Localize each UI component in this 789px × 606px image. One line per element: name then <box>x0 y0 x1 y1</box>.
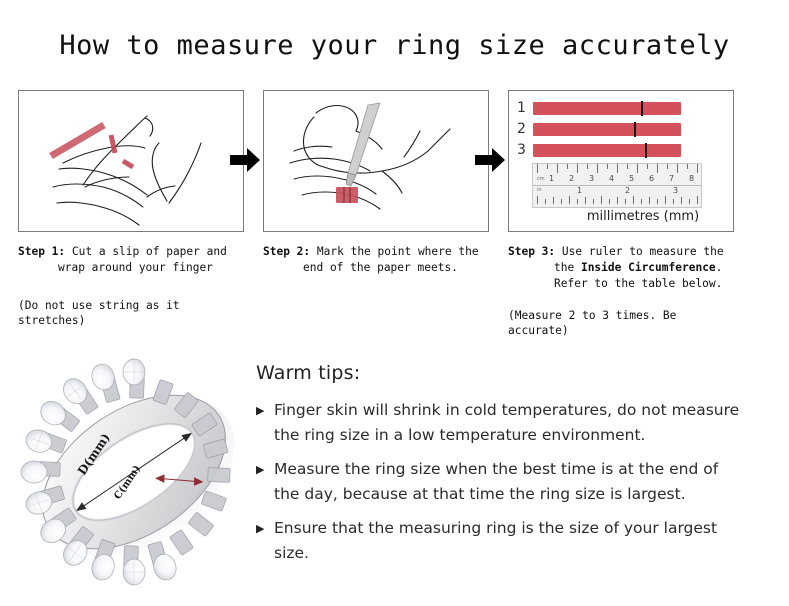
step-column-2: Step 2: Mark the point where the end of … <box>263 90 491 276</box>
hand-with-paper-strip-icon <box>19 91 243 231</box>
step-column-1: Step 1: Cut a slip of paper and wrap aro… <box>18 90 246 328</box>
tip-bullet-icon: ▶ <box>256 398 274 423</box>
tip-bullet-icon: ▶ <box>256 457 274 482</box>
steps-row: Step 1: Cut a slip of paper and wrap aro… <box>0 90 789 340</box>
strip-tick-mark <box>634 122 636 137</box>
strip-bar <box>533 102 681 115</box>
ruler-cm-mark: 3 <box>589 174 594 183</box>
strip-number: 3 <box>517 142 533 158</box>
ruler-imperial-scale: in 1 2 3 <box>533 186 701 207</box>
strip-bar <box>533 123 681 136</box>
strip-row: 1 <box>517 99 729 117</box>
warm-tips-title: Warm tips: <box>256 362 776 384</box>
hand-marking-paper-icon <box>264 91 488 231</box>
step-3-illustration-panel: 1 2 3 <box>508 90 734 232</box>
ruler-cm-mark: 1 <box>549 174 554 183</box>
strip-bar <box>533 144 681 157</box>
step-2-line1: Mark the point where the <box>317 245 479 258</box>
ruler-cm-mark: 6 <box>649 174 654 183</box>
step-1-label: Step 1: <box>18 245 65 258</box>
ruler-inch-mark: 3 <box>673 186 678 195</box>
eternity-ring-icon: D(mm) C(mm) <box>18 352 250 588</box>
step-1-line1: Cut a slip of paper and <box>72 245 227 258</box>
tip-text: Finger skin will shrink in cold temperat… <box>274 398 744 448</box>
ruler-inch-unit: in <box>537 187 542 193</box>
tip-bullet-icon: ▶ <box>256 516 274 541</box>
ruler-graphic: cm 1 2 3 4 5 6 7 8 in 1 2 3 <box>532 163 702 208</box>
ruler-unit-label: millimetres (mm) <box>509 209 734 224</box>
page-title: How to measure your ring size accurately <box>0 30 789 61</box>
ruler-cm-mark: 7 <box>669 174 674 183</box>
strip-number: 1 <box>517 100 533 116</box>
step-1-note: (Do not use string as it stretches) <box>18 298 246 328</box>
ruler-cm-unit: cm <box>537 176 545 182</box>
ruler-cm-mark: 5 <box>629 174 634 183</box>
step-2-line2: end of the paper meets. <box>263 260 491 276</box>
ruler-cm-mark: 8 <box>689 174 694 183</box>
arrow-step2-to-step3 <box>475 146 505 174</box>
strip-row: 3 <box>517 141 729 159</box>
step-1-illustration-panel <box>18 90 244 232</box>
step-3-line3: Refer to the table below. <box>508 276 736 292</box>
step-column-3: 1 2 3 <box>508 90 736 338</box>
strip-tick-mark <box>645 143 647 158</box>
step-3-label: Step 3: <box>508 245 555 258</box>
step-1-caption: Step 1: Cut a slip of paper and wrap aro… <box>18 244 246 276</box>
step-1-line2: wrap around your finger <box>18 260 246 276</box>
tip-text: Ensure that the measuring ring is the si… <box>274 516 744 566</box>
step-2-label: Step 2: <box>263 245 310 258</box>
ruler-metric-scale: cm 1 2 3 4 5 6 7 8 <box>533 164 701 186</box>
arrow-step1-to-step2 <box>230 146 260 174</box>
warm-tips-section: Warm tips: ▶ Finger skin will shrink in … <box>256 362 776 575</box>
step-3-note: (Measure 2 to 3 times. Be accurate) <box>508 308 736 338</box>
measured-strips-group: 1 2 3 <box>517 99 729 162</box>
step-3-line2-prefix: the <box>554 261 581 274</box>
strip-tick-mark <box>641 101 643 116</box>
step-3-line2-suffix: . <box>716 261 723 274</box>
step-2-illustration-panel <box>263 90 489 232</box>
ruler-cm-mark: 2 <box>569 174 574 183</box>
tip-text: Measure the ring size when the best time… <box>274 457 744 507</box>
ring-illustration: D(mm) C(mm) <box>18 352 250 588</box>
strip-number: 2 <box>517 121 533 137</box>
step-3-caption: Step 3: Use ruler to measure the the Ins… <box>508 244 736 292</box>
step-3-inside-circumference-emphasis: Inside Circumference <box>581 261 716 274</box>
ruler-cm-mark: 4 <box>609 174 614 183</box>
ruler-inch-mark: 1 <box>577 186 582 195</box>
ruler-inch-mark: 2 <box>625 186 630 195</box>
strip-row: 2 <box>517 120 729 138</box>
step-3-line1: Use ruler to measure the <box>562 245 724 258</box>
step-2-caption: Step 2: Mark the point where the end of … <box>263 244 491 276</box>
tip-item: ▶ Finger skin will shrink in cold temper… <box>256 398 776 448</box>
tip-item: ▶ Ensure that the measuring ring is the … <box>256 516 776 566</box>
tip-item: ▶ Measure the ring size when the best ti… <box>256 457 776 507</box>
